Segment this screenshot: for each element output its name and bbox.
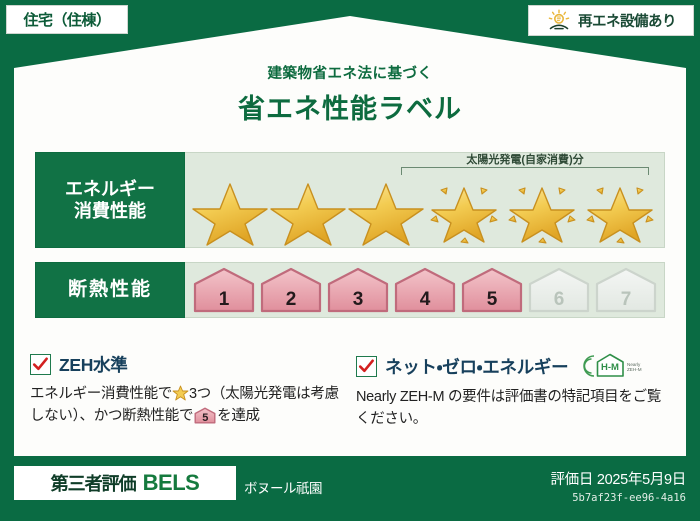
- evaluation-date: 評価日 2025年5月9日: [550, 468, 686, 489]
- insulation-grade-strip: 1 2 3 4: [193, 266, 660, 314]
- insulation-performance-label: 断熱性能: [35, 262, 185, 318]
- zeh-desc-part1: エネルギー消費性能で: [30, 386, 172, 402]
- zeh-standard-title: ZEH水準: [59, 352, 128, 377]
- third-party-evaluation-label: 第三者評価: [51, 470, 136, 496]
- solar-annotation-bracket: [401, 167, 649, 175]
- insulation-grade-5: 5: [461, 267, 523, 313]
- insulation-performance-body: 1 2 3 4: [185, 262, 665, 318]
- bels-logo-text: BELS: [143, 470, 200, 496]
- check-icon: [32, 356, 49, 373]
- check-icon: [358, 358, 375, 375]
- zeh-desc-part3: を達成: [217, 408, 260, 424]
- net-zero-energy-description: Nearly ZEH-M の要件は評価書の特記項目をご覧ください。: [356, 387, 672, 431]
- zeh-standard-description: エネルギー消費性能で3つ（太陽光発電は考慮しない）、かつ断熱性能で5を達成: [30, 384, 342, 428]
- energy-star-2: [269, 176, 347, 246]
- star-sparkle-icon: [425, 176, 503, 246]
- insulation-grade-number: 3: [327, 290, 389, 309]
- svg-text:ZEH-M: ZEH-M: [627, 367, 642, 372]
- energy-star-4-solar: [425, 176, 503, 246]
- svg-text:H-M: H-M: [601, 362, 619, 373]
- housing-type-badge: 住宅（住棟）: [6, 5, 128, 34]
- energy-label-line1: エネルギー: [65, 178, 155, 201]
- solar-contribution-annotation: 太陽光発電(自家消費)分: [401, 154, 649, 178]
- insulation-grade-number: 5: [461, 290, 523, 309]
- title-main: 省エネ性能ラベル: [0, 87, 700, 126]
- inline-star-icon: [172, 385, 189, 401]
- energy-label-line2: 消費性能: [74, 200, 146, 223]
- housing-type-label: 住宅（住棟）: [23, 9, 110, 30]
- energy-performance-body: 太陽光発電(自家消費)分: [185, 152, 665, 248]
- title-subtitle: 建築物省エネ法に基づく: [0, 62, 700, 83]
- evaluation-meta: 評価日 2025年5月9日 5b7af23f-ee96-4a16: [550, 468, 686, 504]
- bels-certification-box: 第三者評価 BELS: [14, 466, 236, 500]
- insulation-grade-number: 2: [260, 290, 322, 309]
- net-zero-energy-heading: ネット・ゼロ・エネルギー H-M Nearly ZEH-M: [356, 352, 672, 380]
- energy-star-5-solar: [503, 176, 581, 246]
- building-name: ボヌール祇園: [244, 477, 322, 497]
- sun-solar-icon: [546, 9, 572, 33]
- nearly-zeh-m-logo: H-M Nearly ZEH-M: [581, 352, 643, 380]
- insulation-performance-row: 断熱性能 1: [35, 262, 665, 318]
- energy-performance-row: エネルギー 消費性能 太陽光発電(自家消費)分: [35, 152, 665, 248]
- insulation-grade-2: 2: [260, 267, 322, 313]
- evaluation-date-value: 2025年5月9日: [597, 472, 686, 488]
- bels-energy-label: 住宅（住棟） 再エネ設備あり 建築物省エネ法に基づく 省エネ性能ラベル エネルギ…: [0, 0, 700, 521]
- renewable-equipment-label: 再エネ設備あり: [578, 10, 676, 31]
- energy-performance-label: エネルギー 消費性能: [35, 152, 185, 248]
- insulation-grade-number: 4: [394, 290, 456, 309]
- solar-annotation-caption: 太陽光発電(自家消費)分: [401, 154, 649, 166]
- insulation-grade-number: 1: [193, 290, 255, 309]
- renewable-equipment-badge: 再エネ設備あり: [528, 5, 694, 36]
- energy-star-3: [347, 176, 425, 246]
- insulation-grade-7: 7: [595, 267, 657, 313]
- insulation-grade-4: 4: [394, 267, 456, 313]
- insulation-grade-number: 6: [528, 290, 590, 309]
- zeh-standard-section: ZEH水準 エネルギー消費性能で3つ（太陽光発電は考慮しない）、かつ断熱性能で5…: [30, 352, 342, 428]
- insulation-grade-3: 3: [327, 267, 389, 313]
- star-sparkle-icon: [503, 176, 581, 246]
- zeh-standard-heading: ZEH水準: [30, 352, 342, 377]
- zeh-checkbox[interactable]: [30, 354, 51, 375]
- star-icon: [191, 176, 269, 246]
- energy-star-1: [191, 176, 269, 246]
- star-sparkle-icon: [581, 176, 659, 246]
- star-icon: [269, 176, 347, 246]
- inline-grade-number: 5: [194, 413, 216, 424]
- insulation-grade-1: 1: [193, 267, 255, 313]
- evaluation-id: 5b7af23f-ee96-4a16: [550, 492, 686, 504]
- insulation-grade-number: 7: [595, 290, 657, 309]
- net-zero-energy-checkbox[interactable]: [356, 356, 377, 377]
- energy-stars-strip: [185, 177, 664, 245]
- energy-star-6-solar: [581, 176, 659, 246]
- net-zero-energy-section: ネット・ゼロ・エネルギー H-M Nearly ZEH-M Nearly ZEH…: [356, 352, 672, 431]
- evaluation-date-label: 評価日: [550, 472, 593, 488]
- net-zero-energy-title: ネット・ゼロ・エネルギー: [385, 354, 568, 379]
- star-icon: [347, 176, 425, 246]
- label-title-block: 建築物省エネ法に基づく 省エネ性能ラベル: [0, 62, 700, 126]
- inline-insulation-grade-badge: 5: [194, 407, 216, 424]
- insulation-grade-6: 6: [528, 267, 590, 313]
